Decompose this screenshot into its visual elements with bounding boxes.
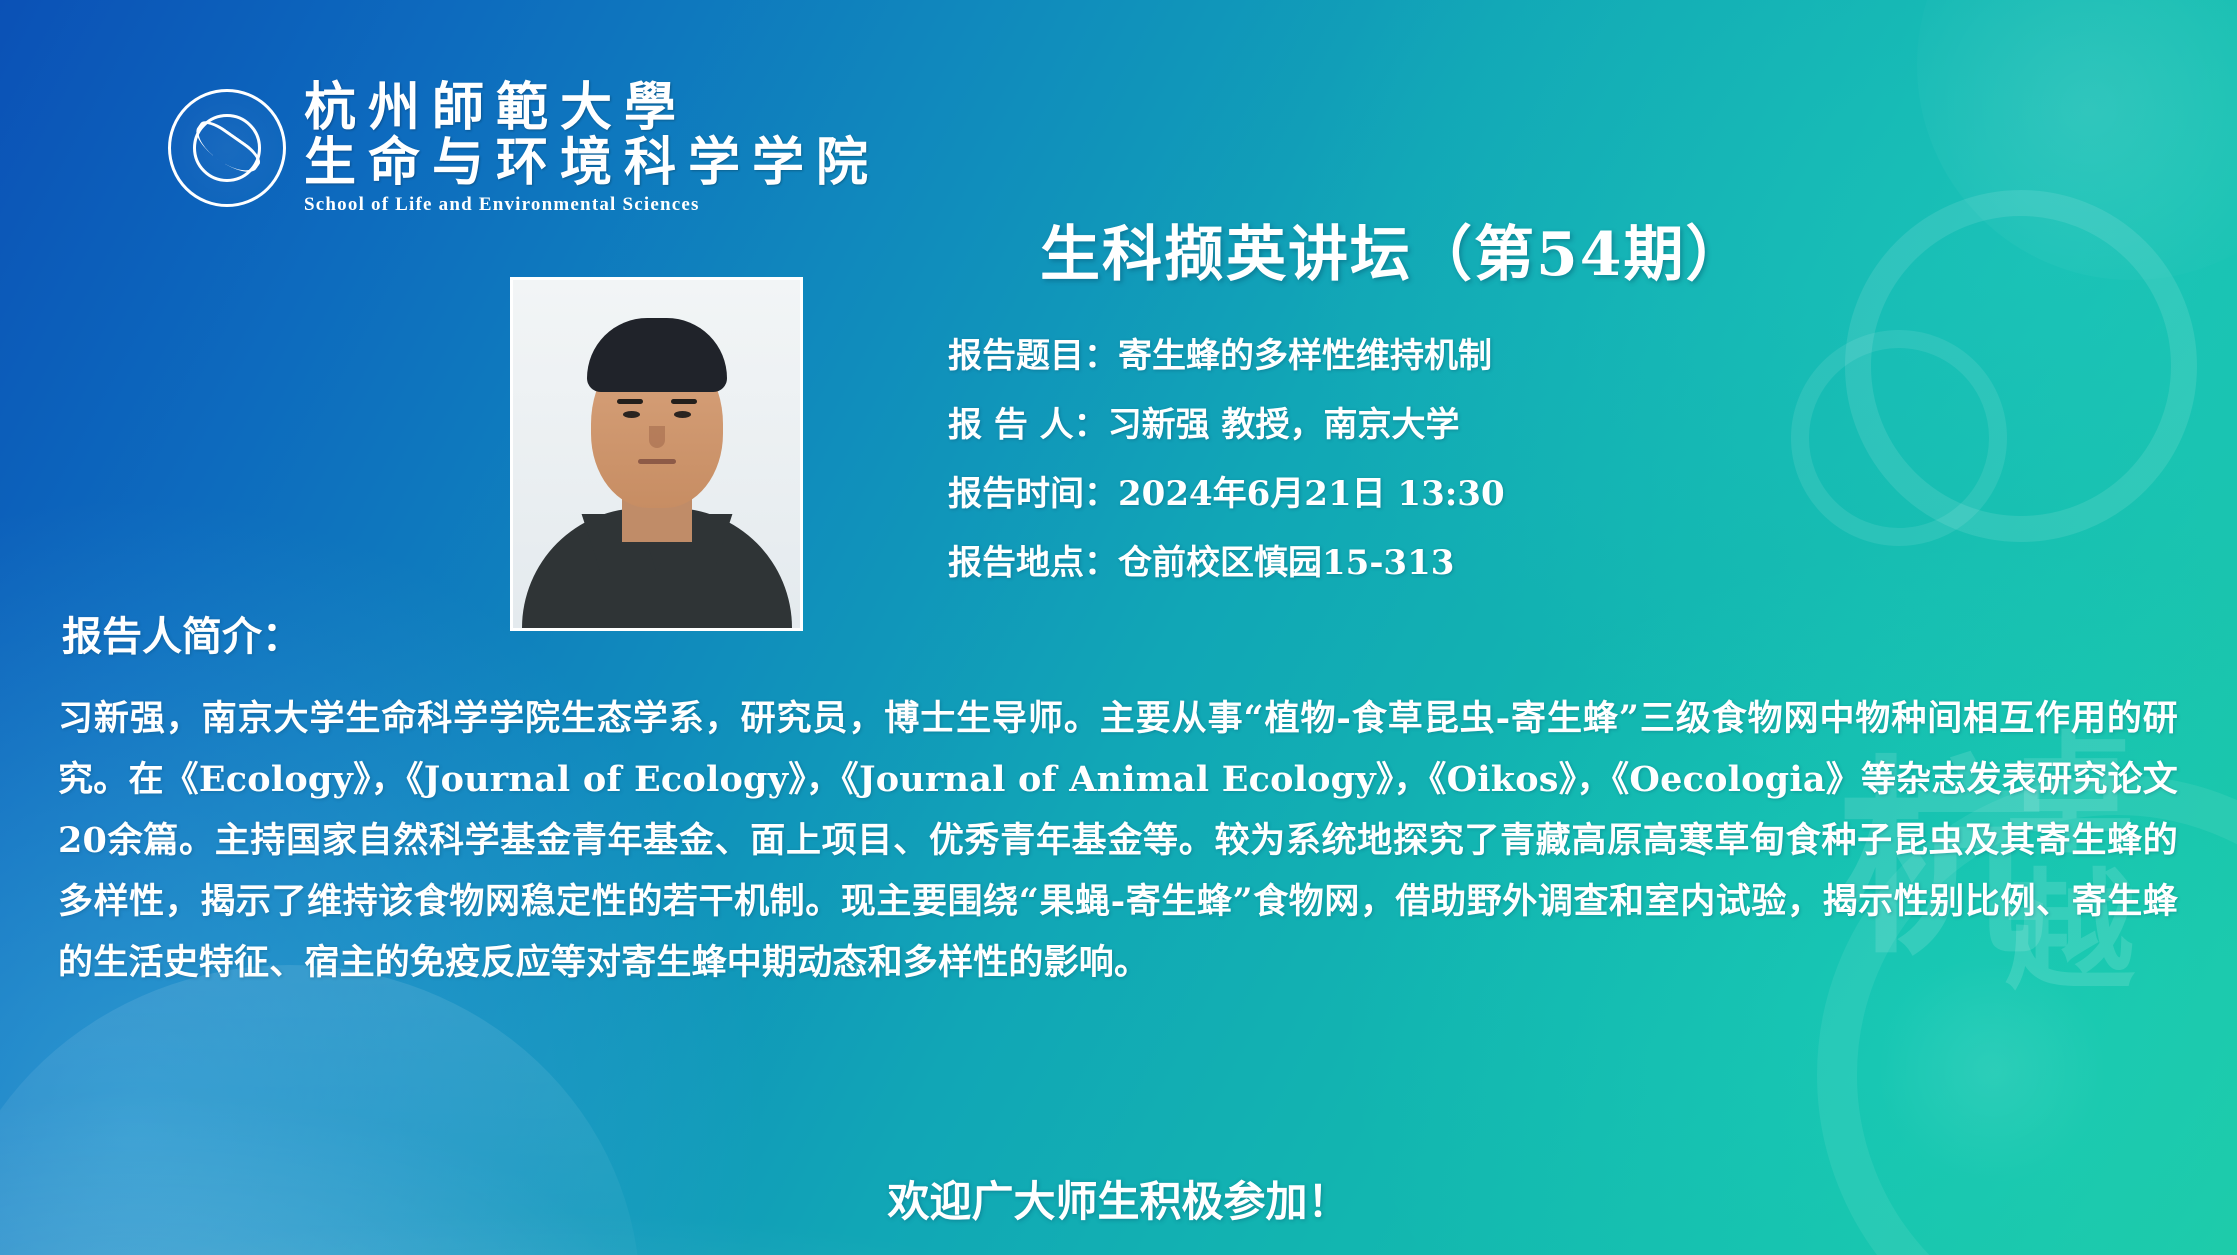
lecture-info-block: 报告题目：寄生蜂的多样性维持机制 报 告 人：习新强 教授，南京大学 报告时间：…: [948, 322, 1505, 598]
poster-canvas: 杭 卓 越 杭州師範大學 生命与环境科学学院 School of Life an…: [0, 0, 2237, 1255]
info-row-topic: 报告题目：寄生蜂的多样性维持机制: [948, 322, 1505, 391]
place-label: 报告地点：: [948, 543, 1118, 583]
logo-text-block: 杭州師範大學 生命与环境科学学院 School of Life and Envi…: [304, 80, 880, 216]
logo-english-line: School of Life and Environmental Science…: [304, 194, 880, 216]
speaker-value: 习新强 教授，南京大学: [1108, 405, 1460, 445]
time-label: 报告时间：: [948, 474, 1118, 514]
photo-brow-left: [617, 399, 643, 404]
bio-paragraph: 习新强，南京大学生命科学学院生态学系，研究员，博士生导师。主要从事“植物-食草昆…: [58, 688, 2178, 993]
topic-label: 报告题目：: [948, 336, 1118, 376]
info-row-place: 报告地点：仓前校区慎园15-313: [948, 529, 1505, 598]
welcome-message: 欢迎广大师生积极参加！: [0, 1168, 2237, 1229]
time-value: 2024年6月21日 13:30: [1118, 474, 1505, 514]
university-seal-icon: [168, 89, 286, 207]
poster-header: 杭州師範大學 生命与环境科学学院 School of Life and Envi…: [0, 78, 2237, 218]
speaker-photo: [510, 277, 803, 631]
bio-heading: 报告人简介：: [62, 604, 302, 662]
photo-nose: [649, 426, 665, 448]
photo-eye-left: [623, 411, 640, 418]
university-logo: 杭州師範大學 生命与环境科学学院 School of Life and Envi…: [168, 80, 880, 216]
photo-mouth: [638, 459, 676, 464]
logo-chinese-line1: 杭州師範大學: [304, 80, 880, 135]
logo-chinese-line2: 生命与环境科学学院: [304, 135, 880, 190]
speaker-label: 报 告 人：: [948, 405, 1108, 445]
place-value: 仓前校区慎园15-313: [1118, 543, 1454, 583]
info-row-speaker: 报 告 人：习新强 教授，南京大学: [948, 391, 1505, 460]
poster-title: 生科撷英讲坛（第54期）: [1040, 206, 1748, 293]
decorative-circle-2: [1845, 190, 2197, 542]
topic-value: 寄生蜂的多样性维持机制: [1118, 336, 1492, 376]
photo-eye-right: [674, 411, 691, 418]
info-row-time: 报告时间：2024年6月21日 13:30: [948, 460, 1505, 529]
decorative-circle-3: [1791, 330, 2007, 546]
photo-brow-right: [671, 399, 697, 404]
